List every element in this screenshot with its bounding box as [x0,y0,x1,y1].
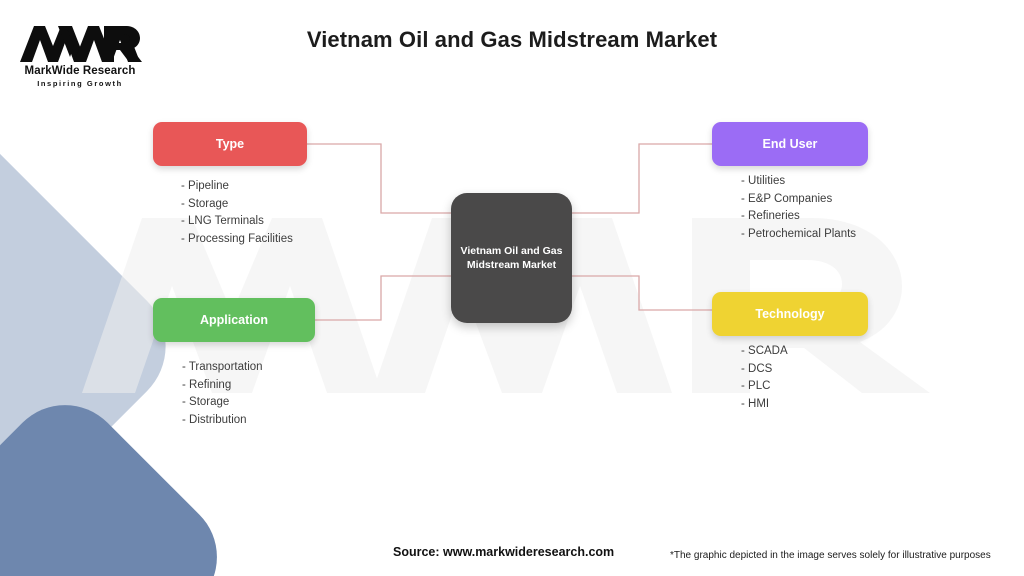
list-item: - Transportation [182,359,263,377]
list-item: - HMI [741,396,788,414]
list-item: - Storage [182,394,263,412]
node-technology[interactable]: Technology [712,292,868,336]
list-item: - Petrochemical Plants [741,226,856,244]
list-item: - Refining [182,377,263,395]
list-item: - Pipeline [181,178,293,196]
list-item: - Refineries [741,208,856,226]
list-item: - Storage [181,196,293,214]
list-technology: - SCADA - DCS - PLC - HMI [741,343,788,413]
center-label-line-2: Midstream Market [467,259,556,271]
list-application: - Transportation - Refining - Storage - … [182,359,263,429]
list-item: - Distribution [182,412,263,430]
page-title: Vietnam Oil and Gas Midstream Market [0,27,1024,53]
node-application-label: Application [200,313,268,327]
logo-company-name: MarkWide Research [18,65,142,77]
node-type[interactable]: Type [153,122,307,166]
disclaimer-text: *The graphic depicted in the image serve… [670,550,991,561]
list-end-user: - Utilities - E&P Companies - Refineries… [741,173,856,243]
connector-application [315,276,451,320]
list-item: - SCADA [741,343,788,361]
node-type-label: Type [216,137,244,151]
node-end-user[interactable]: End User [712,122,868,166]
list-item: - PLC [741,378,788,396]
center-node[interactable]: Vietnam Oil and Gas Midstream Market [451,193,572,323]
list-item: - Processing Facilities [181,231,293,249]
source-text: Source: www.markwideresearch.com [393,545,614,559]
node-end-user-label: End User [763,137,818,151]
center-label-line-1: Vietnam Oil and Gas [461,245,563,257]
list-item: - Utilities [741,173,856,191]
list-item: - LNG Terminals [181,213,293,231]
connector-technology [572,276,712,310]
list-item: - DCS [741,361,788,379]
node-application[interactable]: Application [153,298,315,342]
connector-end-user [572,144,712,213]
logo-tagline: Inspiring Growth [18,79,142,88]
center-node-label: Vietnam Oil and Gas Midstream Market [455,244,569,272]
list-item: - E&P Companies [741,191,856,209]
list-type: - Pipeline - Storage - LNG Terminals - P… [181,178,293,248]
node-technology-label: Technology [755,307,824,321]
diagram-canvas: MarkWide Research Inspiring Growth Vietn… [0,0,1024,576]
connector-type [307,144,451,213]
